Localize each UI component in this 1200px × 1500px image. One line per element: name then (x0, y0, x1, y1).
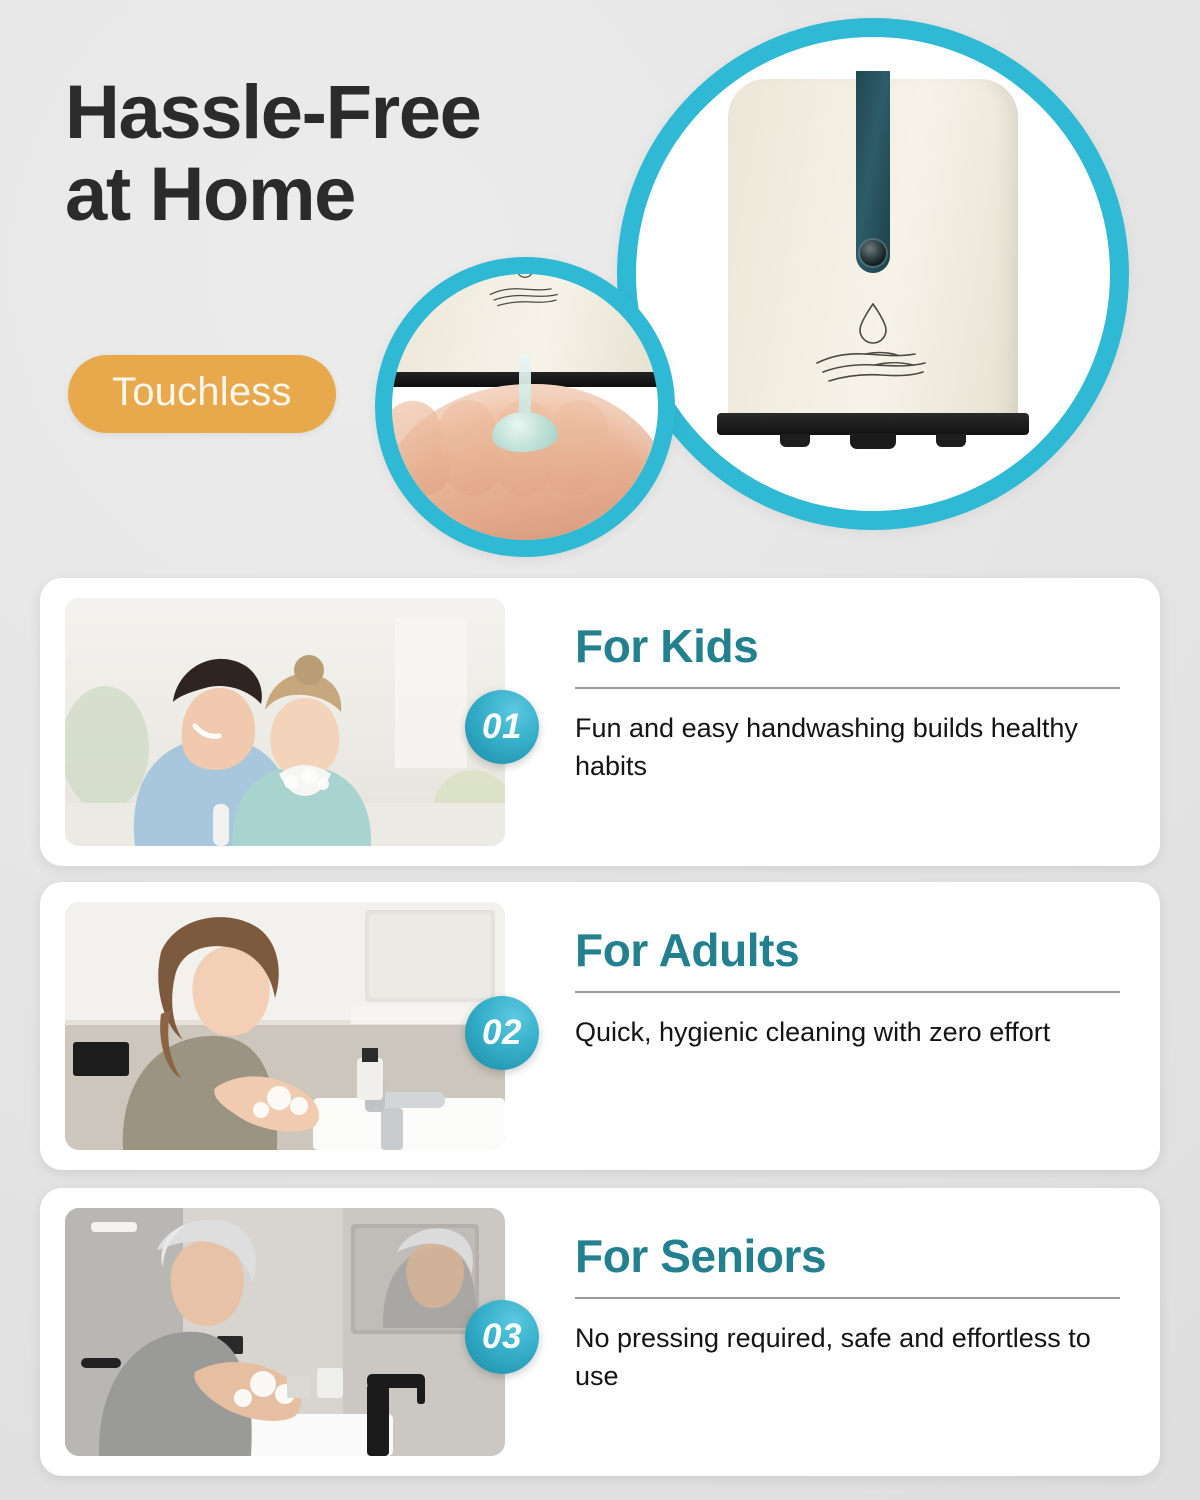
step-number-badge-01: 01 (465, 690, 539, 764)
card-description: Fun and easy handwashing builds healthy … (575, 709, 1105, 786)
card-divider (575, 687, 1120, 689)
open-hand-icon (813, 341, 933, 398)
dispenser-foot-right (936, 434, 966, 447)
card-text-seniors: For Seniors No pressing required, safe a… (575, 1232, 1120, 1395)
card-description: No pressing required, safe and effortles… (575, 1319, 1105, 1396)
droplet-icon (514, 257, 535, 282)
soap-dispenser-body (728, 79, 1018, 419)
card-photo-kids (65, 598, 505, 846)
card-photo-adults (65, 902, 505, 1150)
open-hand-icon (488, 281, 562, 316)
dispenser-nozzle (850, 433, 896, 449)
hero-section: Hassle-Free at Home Touchless (0, 0, 1200, 570)
card-title: For Seniors (575, 1232, 1120, 1281)
card-text-kids: For Kids Fun and easy handwashing builds… (575, 622, 1120, 785)
card-title: For Adults (575, 926, 1120, 975)
touchless-badge: Touchless (68, 355, 336, 433)
card-photo-seniors (65, 1208, 505, 1456)
soap-blob (492, 412, 558, 452)
card-divider (575, 1297, 1120, 1299)
benefit-card-seniors: For Seniors No pressing required, safe a… (40, 1188, 1160, 1476)
motion-sensor-icon (860, 240, 886, 266)
dispenser-base (717, 413, 1029, 435)
step-number-badge-02: 02 (465, 996, 539, 1070)
benefit-card-adults: For Adults Quick, hygienic cleaning with… (40, 882, 1160, 1170)
card-description: Quick, hygienic cleaning with zero effor… (575, 1013, 1105, 1051)
step-number-badge-03: 03 (465, 1300, 539, 1374)
card-text-adults: For Adults Quick, hygienic cleaning with… (575, 926, 1120, 1051)
finger (539, 396, 612, 501)
product-photo-circle-large (617, 18, 1129, 530)
finger (436, 397, 503, 499)
product-photo-circle-small (375, 257, 675, 557)
page-title: Hassle-Free at Home (65, 72, 481, 236)
sensor-strip (856, 71, 890, 273)
card-title: For Kids (575, 622, 1120, 671)
soap-stream (519, 354, 531, 418)
card-divider (575, 991, 1120, 993)
benefit-card-kids: For Kids Fun and easy handwashing builds… (40, 578, 1160, 866)
open-palm-photo (376, 384, 674, 557)
dispenser-foot-left (780, 434, 810, 447)
